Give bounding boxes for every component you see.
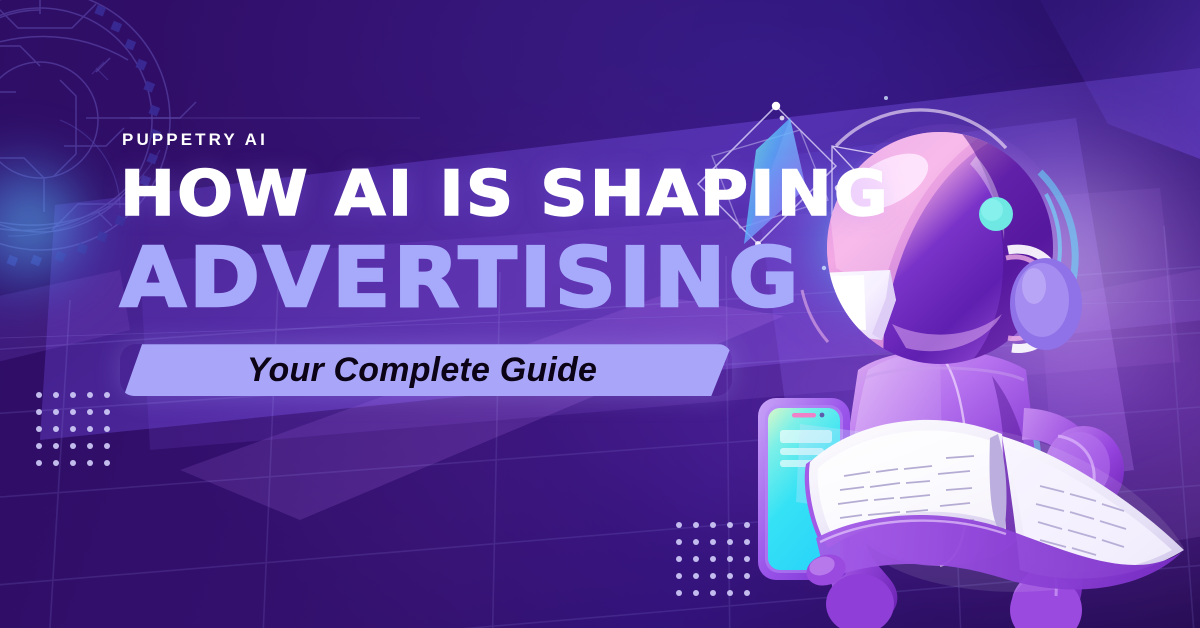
dot-grid-middle bbox=[676, 522, 750, 596]
subtitle-text: Your Complete Guide bbox=[116, 344, 728, 396]
banner-hero: PUPPETRY AI HOW AI IS SHAPING ADVERTISIN… bbox=[0, 0, 1200, 628]
brand-eyebrow: PUPPETRY AI bbox=[122, 130, 760, 150]
subtitle-pill: Your Complete Guide bbox=[120, 344, 732, 396]
headline-line-1: HOW AI IS SHAPING bbox=[120, 164, 798, 224]
hero-text-block: PUPPETRY AI HOW AI IS SHAPING ADVERTISIN… bbox=[120, 130, 760, 396]
glow-blob-left bbox=[0, 150, 94, 300]
headline-line-2: ADVERTISING bbox=[120, 240, 786, 319]
dot-grid-left bbox=[36, 392, 110, 466]
